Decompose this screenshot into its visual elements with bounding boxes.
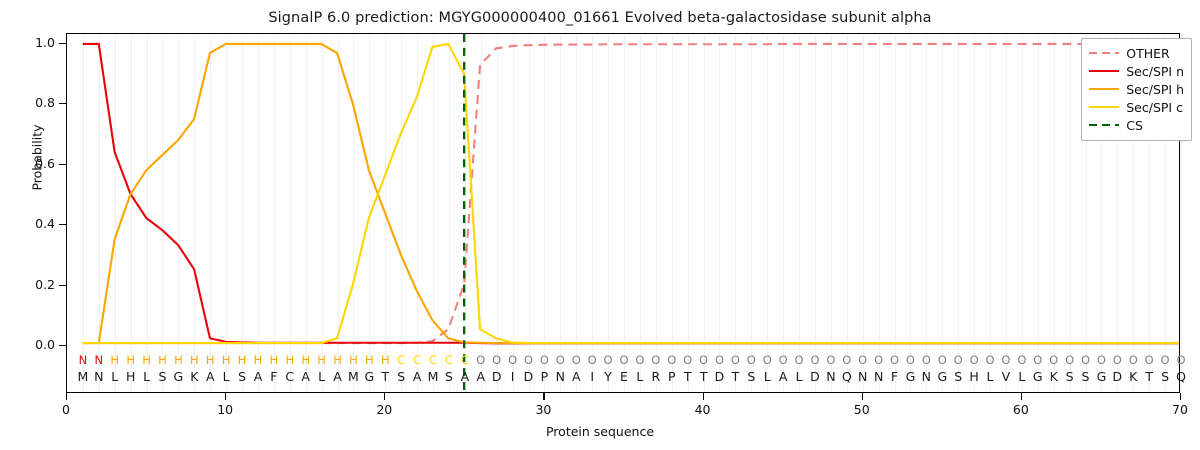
legend-item-sec-spi-h[interactable]: Sec/SPI h xyxy=(1089,80,1184,98)
legend[interactable]: OTHERSec/SPI nSec/SPI hSec/SPI cCS xyxy=(1081,38,1192,141)
legend-label: CS xyxy=(1126,118,1143,133)
legend-label: OTHER xyxy=(1126,46,1169,61)
region-annotation-row: NNHHHHHHHHHHHHHHHHHHCCCCCOOOOOOOOOOOOOOO… xyxy=(67,352,1179,368)
legend-item-cs[interactable]: CS xyxy=(1089,116,1184,134)
y-tick-label: 0.4 xyxy=(0,216,64,231)
y-tick-label: 0.2 xyxy=(0,277,64,292)
legend-swatch xyxy=(1089,65,1119,77)
probability-curves xyxy=(67,34,1179,392)
x-tick-label: 20 xyxy=(354,402,414,417)
legend-label: Sec/SPI c xyxy=(1126,100,1183,115)
x-tick-label: 0 xyxy=(36,402,96,417)
x-tick xyxy=(225,393,226,400)
x-tick xyxy=(66,393,67,400)
legend-swatch xyxy=(1089,101,1119,113)
plot-area: NNHHHHHHHHHHHHHHHHHHCCCCCOOOOOOOOOOOOOOO… xyxy=(66,33,1180,393)
x-tick-label: 50 xyxy=(832,402,892,417)
x-tick-label: 10 xyxy=(195,402,255,417)
x-tick-label: 30 xyxy=(513,402,573,417)
legend-item-sec-spi-n[interactable]: Sec/SPI n xyxy=(1089,62,1184,80)
legend-swatch xyxy=(1089,83,1119,95)
y-tick-label: 0.0 xyxy=(0,337,64,352)
x-tick-label: 40 xyxy=(673,402,733,417)
series-line-sec-spi-n xyxy=(83,44,1179,343)
series-line-other xyxy=(83,44,1179,343)
legend-label: Sec/SPI n xyxy=(1126,64,1184,79)
x-tick xyxy=(703,393,704,400)
x-tick xyxy=(543,393,544,400)
x-tick xyxy=(1021,393,1022,400)
signalp-plot-page: SignalP 6.0 prediction: MGYG000000400_01… xyxy=(0,0,1200,450)
legend-label: Sec/SPI h xyxy=(1126,82,1184,97)
legend-item-other[interactable]: OTHER xyxy=(1089,44,1184,62)
protein-sequence-row: MNLHLSGKALSAFCALAMGTSAMSAADIDPNAIYELRPTT… xyxy=(67,368,1179,384)
x-tick xyxy=(384,393,385,400)
series-line-sec-spi-h xyxy=(83,44,1179,343)
series-line-sec-spi-c xyxy=(83,44,1179,343)
residue-label: Q xyxy=(1169,368,1193,386)
page-title: SignalP 6.0 prediction: MGYG000000400_01… xyxy=(0,10,1200,26)
x-tick xyxy=(1180,393,1181,400)
legend-item-sec-spi-c[interactable]: Sec/SPI c xyxy=(1089,98,1184,116)
x-tick-label: 70 xyxy=(1150,402,1200,417)
y-tick-label: 1.0 xyxy=(0,35,64,50)
y-axis-title: Probability xyxy=(30,98,45,218)
region-label: O xyxy=(1169,352,1193,368)
x-tick xyxy=(862,393,863,400)
x-tick-label: 60 xyxy=(991,402,1051,417)
x-axis-title: Protein sequence xyxy=(0,424,1200,439)
legend-swatch xyxy=(1089,119,1119,131)
legend-swatch xyxy=(1089,47,1119,59)
